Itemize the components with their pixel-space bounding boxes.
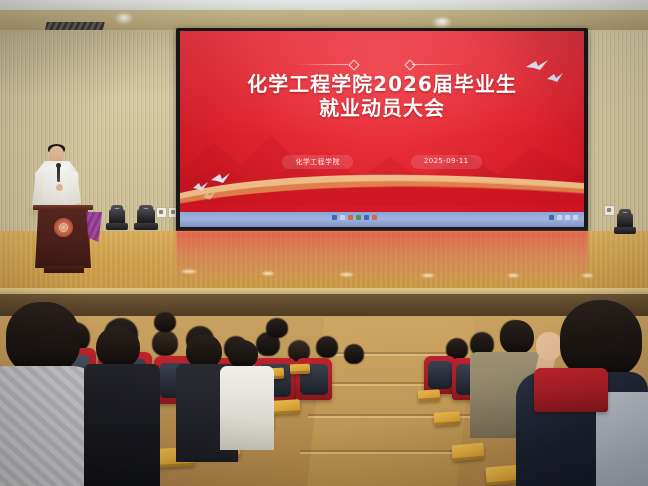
floor-highlight — [582, 274, 593, 277]
downlight-icon — [116, 14, 132, 23]
person-torso — [84, 364, 160, 486]
seat-tablet[interactable] — [434, 411, 461, 426]
stage-reflection — [176, 231, 588, 281]
taskbar-right-icons[interactable] — [549, 215, 578, 220]
person-head — [6, 302, 80, 374]
led-screen[interactable]: 化学工程学院2026届毕业生 就业动员大会 化学工程学院 2025-09-11 — [180, 31, 584, 227]
floor-highlight — [262, 272, 274, 275]
moving-head-light — [134, 192, 158, 230]
dove-icon — [546, 71, 564, 84]
university-emblem-icon — [54, 218, 73, 237]
audience-head — [154, 312, 176, 332]
aisle-step-highlight — [300, 452, 474, 454]
podium-top — [33, 205, 93, 210]
battery-icon[interactable] — [565, 215, 570, 220]
moving-head-light — [106, 196, 128, 230]
windows-taskbar[interactable] — [180, 212, 584, 227]
person-head — [186, 334, 222, 368]
audience-head — [316, 336, 338, 358]
seat-tablet[interactable] — [418, 389, 441, 401]
person-head — [96, 326, 140, 368]
person-hand — [536, 332, 562, 360]
network-icon[interactable] — [549, 215, 554, 220]
seat[interactable] — [534, 368, 608, 412]
moving-head-light — [614, 208, 636, 234]
volume-icon[interactable] — [557, 215, 562, 220]
folder-icon[interactable] — [348, 215, 353, 220]
podium — [35, 208, 91, 268]
back-wall-right — [585, 30, 648, 232]
downlight-icon — [434, 18, 450, 27]
banner-title-block: 化学工程学院2026届毕业生 就业动员大会 — [180, 73, 584, 120]
audience-head — [266, 318, 288, 338]
title-rule-right — [412, 64, 464, 65]
ppt-icon[interactable] — [372, 215, 377, 220]
seat-tablet[interactable] — [270, 399, 301, 415]
audience-head — [344, 344, 364, 364]
microphone-icon — [57, 166, 60, 182]
edge-icon[interactable] — [356, 215, 361, 220]
seat-tablet[interactable] — [451, 443, 484, 462]
person-head — [228, 340, 258, 368]
gold-ribbon — [180, 167, 584, 213]
title-rule-left — [296, 64, 348, 65]
speaker-hand — [56, 184, 63, 191]
auditorium-photo: 化学工程学院2026届毕业生 就业动员大会 化学工程学院 2025-09-11 — [0, 0, 648, 486]
person-torso — [220, 366, 274, 450]
speaker-head — [49, 146, 64, 163]
floor-highlight — [422, 274, 434, 277]
chrome-icon[interactable] — [364, 215, 369, 220]
wall-shadow — [0, 30, 180, 100]
search-icon[interactable] — [340, 215, 345, 220]
person-head — [500, 320, 534, 354]
banner-title-line-2: 就业动员大会 — [180, 97, 584, 121]
taskbar-left-icons[interactable] — [332, 215, 377, 220]
clock-icon[interactable] — [573, 215, 578, 220]
floor-highlight — [182, 270, 196, 273]
podium-base — [44, 266, 84, 273]
banner-title-line-1: 化学工程学院2026届毕业生 — [180, 73, 584, 97]
floor-highlight — [508, 274, 519, 277]
audience-head — [152, 330, 178, 356]
seat-tablet[interactable] — [290, 364, 310, 375]
floor-highlight — [340, 273, 353, 276]
person-head — [560, 300, 642, 378]
start-icon[interactable] — [332, 215, 337, 220]
